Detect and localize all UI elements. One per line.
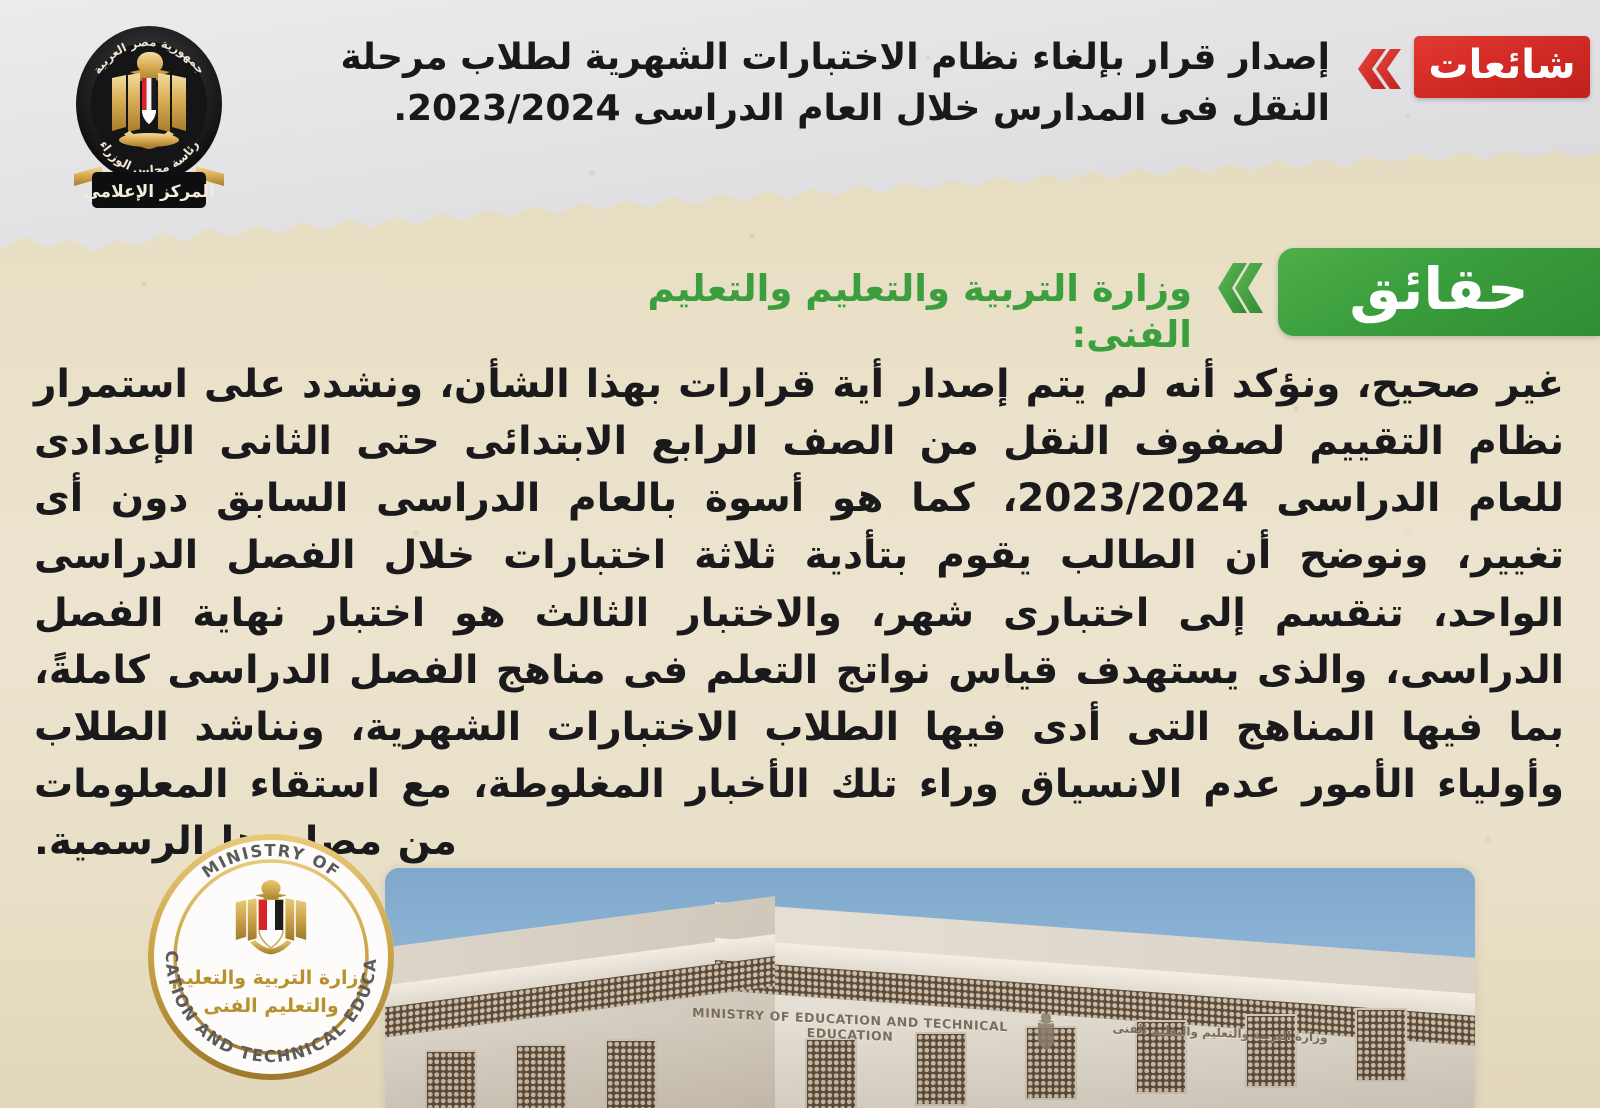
building-window (605, 1039, 657, 1108)
building-window (1355, 1008, 1407, 1082)
cabinet-logo-center-text: المركز الإعلامي (83, 182, 214, 202)
ministry-of-education-seal: وزارة التربية والتعليم والتعليم الفنى ED… (146, 832, 396, 1082)
building-window (515, 1044, 567, 1108)
double-chevron-left-icon (1346, 48, 1402, 90)
rumor-title: إصدار قرار بإلغاء نظام الاختبارات الشهري… (320, 32, 1330, 134)
infographic-poster: جمهورية مصر العربية رئاسة مجلس الوزراء ا… (0, 0, 1600, 1108)
ministry-building-photo: MINISTRY OF EDUCATION AND TECHNICAL EDUC… (385, 868, 1475, 1108)
rumor-badge: شائعات (1414, 36, 1590, 98)
rumor-badge-label: شائعات (1428, 45, 1575, 85)
building-window (1245, 1014, 1297, 1088)
double-chevron-left-icon-green (1206, 262, 1264, 314)
building-window (425, 1050, 477, 1108)
fact-badge: حقائق (1278, 248, 1600, 336)
egypt-eagle-emblem-icon (1033, 1009, 1059, 1052)
cabinet-media-center-logo: جمهورية مصر العربية رئاسة مجلس الوزراء ا… (62, 22, 236, 218)
fact-body-text: غير صحيح، ونؤكد أنه لم يتم إصدار أية قرا… (34, 356, 1564, 870)
seal-arabic-line-2: والتعليم الفنى (203, 995, 338, 1017)
building-window (805, 1038, 857, 1108)
fact-source-label: وزارة التربية والتعليم والتعليم الفنى: (532, 266, 1192, 359)
seal-arabic-line-1: وزارة التربية والتعليم (172, 967, 371, 989)
fact-badge-label: حقائق (1349, 260, 1528, 318)
